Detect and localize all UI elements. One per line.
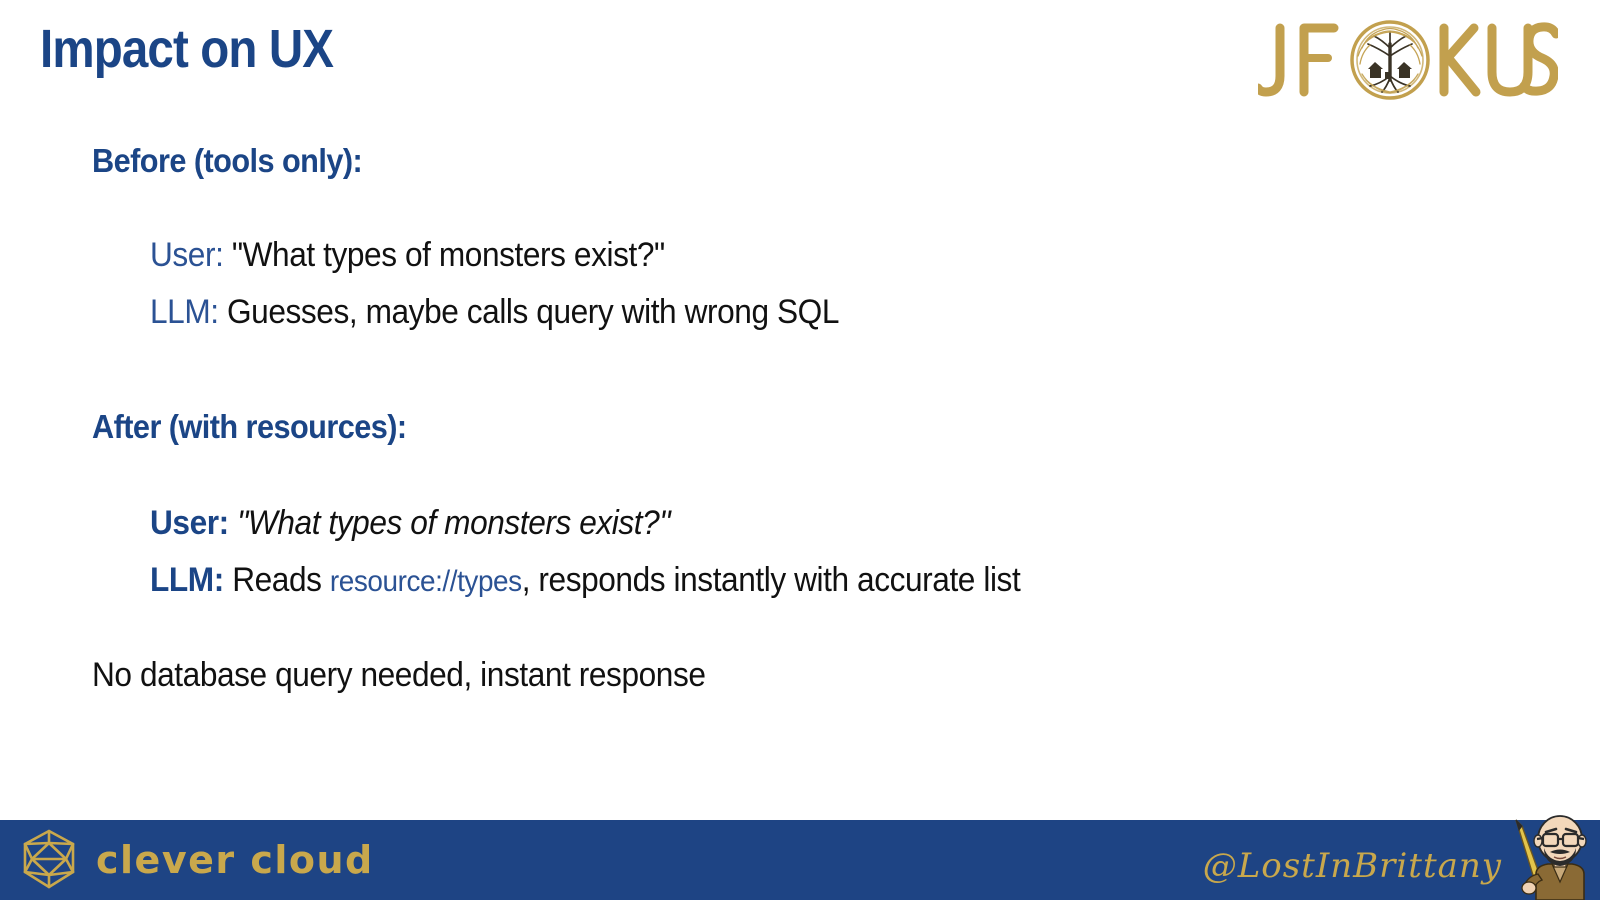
speaker-avatar-icon: [1502, 812, 1594, 900]
jfokus-logo: [1258, 14, 1558, 106]
dialog-text-llm-suffix: , responds instantly with accurate list: [522, 561, 1021, 599]
dialog-block-after: User: "What types of monsters exist?" LL…: [150, 504, 1512, 600]
footer-social: @LostInBrittany: [1203, 820, 1600, 900]
resource-uri-link: resource://types: [330, 565, 522, 598]
dialog-text-user: "What types of monsters exist?": [232, 236, 665, 274]
dialog-text-user-italic: "What types of monsters exist?": [237, 504, 670, 542]
page-title: Impact on UX: [40, 20, 333, 78]
dialog-text-llm: Guesses, maybe calls query with wrong SQ…: [227, 293, 839, 331]
speaker-label-user: User:: [150, 236, 223, 274]
speaker-handle: @LostInBrittany: [1203, 846, 1502, 900]
closing-statement: No database query needed, instant respon…: [92, 656, 1413, 695]
dialog-line-before-user: User: "What types of monsters exist?": [150, 236, 1417, 275]
dialog-block-before: User: "What types of monsters exist?" LL…: [150, 236, 1512, 332]
dialog-text-llm-prefix: Reads: [232, 561, 321, 599]
dialog-line-after-user: User: "What types of monsters exist?": [150, 504, 1417, 543]
section-heading-after: After (with resources):: [92, 408, 1413, 446]
slide-body: Before (tools only): User: "What types o…: [92, 142, 1512, 695]
speaker-label-user-bold: User:: [150, 504, 229, 542]
section-heading-before: Before (tools only):: [92, 142, 1413, 180]
speaker-label-llm-bold: LLM:: [150, 561, 224, 599]
dialog-line-before-llm: LLM: Guesses, maybe calls query with wro…: [150, 293, 1417, 332]
speaker-label-llm: LLM:: [150, 293, 219, 331]
footer-bar: clever cloud @LostInBrittany: [0, 820, 1600, 900]
dialog-line-after-llm: LLM: Reads resource://types, responds in…: [150, 561, 1417, 600]
clever-cloud-wordmark: clever cloud: [96, 838, 374, 882]
slide: Impact on UX: [0, 0, 1600, 900]
icosahedron-icon: [16, 827, 82, 893]
footer-brand: clever cloud: [0, 827, 374, 893]
